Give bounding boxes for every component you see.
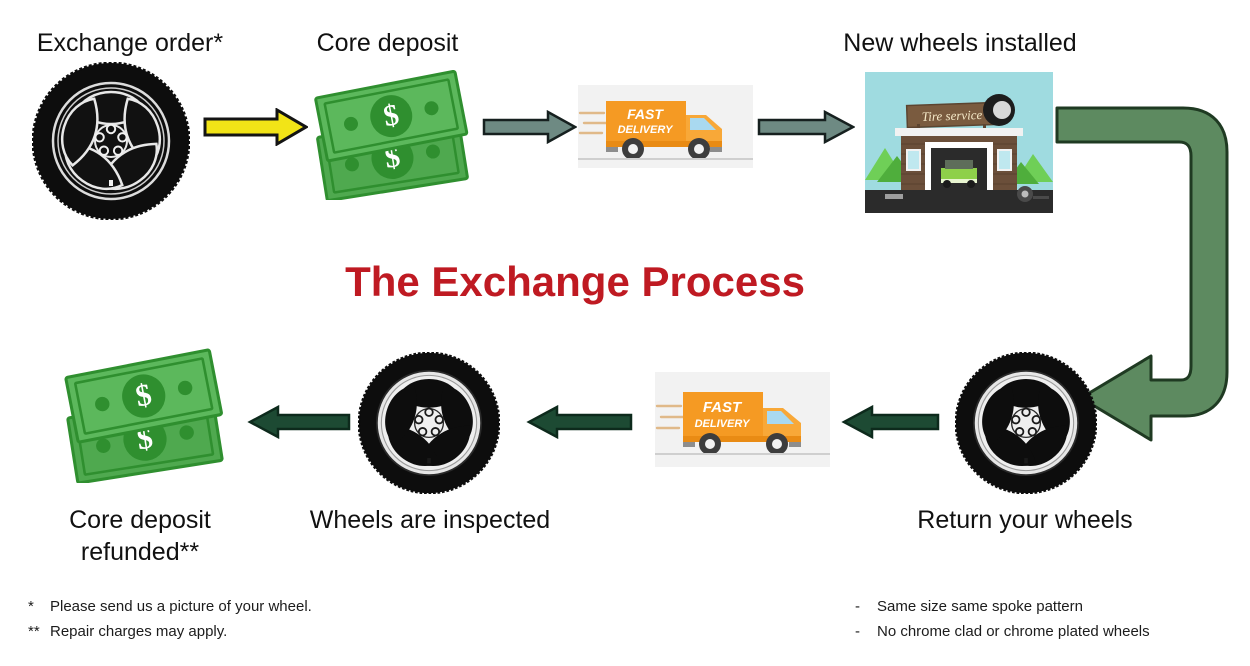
footnote-text: No chrome clad or chrome plated wheels bbox=[877, 623, 1150, 640]
footnote-text: Repair charges may apply. bbox=[50, 623, 227, 640]
truck-text-fast-bottom: FAST bbox=[703, 399, 743, 416]
arrow-return-to-shipping bbox=[840, 405, 940, 439]
label-core-deposit-refunded-line1: Core deposit bbox=[20, 505, 260, 536]
arrow-order-to-deposit bbox=[203, 108, 308, 146]
truck-text-delivery: DELIVERY bbox=[618, 124, 674, 136]
footnote-mark: ** bbox=[28, 620, 50, 645]
footnotes-left: *Please send us a picture of your wheel.… bbox=[28, 595, 312, 645]
footnote-left-1: *Please send us a picture of your wheel. bbox=[28, 595, 312, 620]
page-title: The Exchange Process bbox=[0, 258, 1150, 306]
money-bills-icon: $ $ bbox=[307, 70, 477, 205]
footnote-mark: * bbox=[28, 595, 50, 620]
footnote-right-2: -No chrome clad or chrome plated wheels bbox=[855, 620, 1150, 645]
label-return-your-wheels: Return your wheels bbox=[875, 505, 1175, 536]
footnote-right-1: -Same size same spoke pattern bbox=[855, 595, 1150, 620]
footnote-left-2: **Repair charges may apply. bbox=[28, 620, 312, 645]
truck-text-delivery-bottom: DELIVERY bbox=[695, 418, 751, 430]
tire-wheel-light-icon-inspected bbox=[358, 352, 500, 499]
arrow-shipping-to-install bbox=[757, 110, 855, 144]
shop-sign-text: Tire service bbox=[922, 107, 983, 124]
label-core-deposit: Core deposit bbox=[275, 28, 500, 59]
delivery-truck-icon-bottom: FAST DELIVERY bbox=[655, 372, 830, 467]
footnote-mark: - bbox=[855, 595, 877, 620]
label-wheels-inspected: Wheels are inspected bbox=[285, 505, 575, 536]
arrow-deposit-to-shipping bbox=[482, 110, 577, 144]
footnote-text: Same size same spoke pattern bbox=[877, 598, 1083, 615]
footnotes-right: -Same size same spoke pattern -No chrome… bbox=[855, 595, 1150, 645]
label-new-wheels-installed: New wheels installed bbox=[795, 28, 1125, 59]
tire-wheel-dark-icon bbox=[32, 62, 190, 225]
tire-wheel-light-icon-return bbox=[955, 352, 1097, 499]
footnote-mark: - bbox=[855, 620, 877, 645]
exchange-process-diagram: Exchange order* Core deposit New wheels … bbox=[0, 0, 1250, 666]
footnote-text: Please send us a picture of your wheel. bbox=[50, 598, 312, 615]
label-core-deposit-refunded-line2: refunded** bbox=[20, 537, 260, 568]
tire-service-shop-icon: Tire service bbox=[865, 72, 1053, 213]
arrow-inspection-to-refund bbox=[246, 405, 351, 439]
delivery-truck-icon-top: FAST DELIVERY bbox=[578, 85, 753, 168]
arrow-shipping-to-inspection bbox=[525, 405, 633, 439]
truck-text-fast: FAST bbox=[627, 106, 664, 122]
label-exchange-order: Exchange order* bbox=[0, 28, 260, 59]
money-bills-icon-refund: $ $ bbox=[57, 348, 232, 488]
